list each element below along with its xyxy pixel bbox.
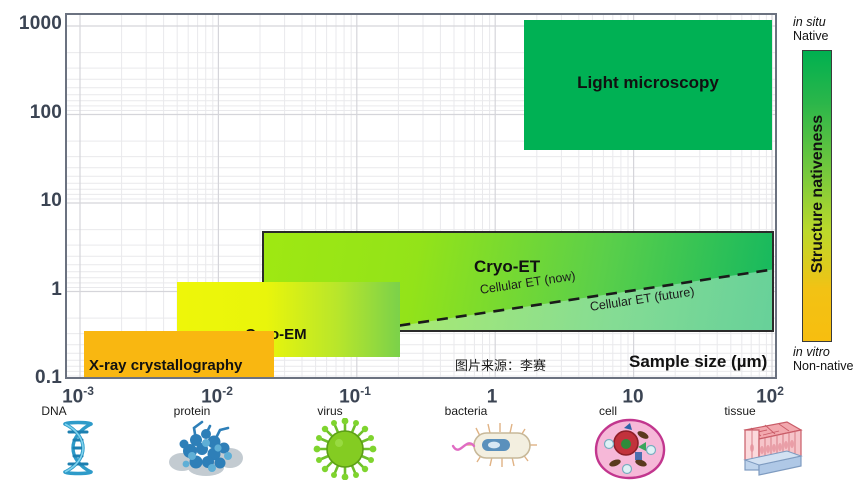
legend-top-italic: in situ [793,15,855,29]
legend-top-plain: Native [793,29,828,43]
source-annotation: 图片来源：李赛 [455,355,546,374]
x-category-virus: virus [270,404,390,418]
legend-structure-nativeness: in situ Native Structure nativeness in v… [793,13,855,379]
cell-icon [585,418,675,480]
region-label-cryo-et: Cryo-ET [474,257,540,277]
region-label-light-microscopy: Light microscopy [525,73,771,93]
dna-icon [33,418,123,480]
tissue-icon [723,418,813,480]
legend-bottom-caption: in vitro Non-native [793,345,855,373]
region-label-xray-crystallography: X-ray crystallography [89,357,242,374]
region-light-microscopy[interactable]: Light microscopy [524,20,772,150]
legend-bottom-plain: Non-native [793,359,853,373]
y-tick-1000: 1000 [4,13,62,35]
protein-icon [160,418,250,480]
legend-gradient-bar: Structure nativeness [802,50,832,342]
legend-title: Structure nativeness [809,63,827,325]
figure-root: 1000 100 10 1 0.1 Resolution (nm) [0,0,868,483]
y-tick-100: 100 [4,102,62,124]
x-category-tissue: tissue [680,404,800,418]
y-tick-1: 1 [4,279,62,301]
bacteria-icon [450,418,540,480]
legend-bottom-italic: in vitro [793,345,855,359]
virus-icon [300,418,390,480]
region-xray-crystallography[interactable]: X-ray crystallography [84,331,274,379]
x-category-bacteria: bacteria [406,404,526,418]
x-category-dna: DNA [0,404,114,418]
x-category-cell: cell [548,404,668,418]
y-tick-10: 10 [4,190,62,212]
x-category-protein: protein [132,404,252,418]
legend-top-caption: in situ Native [793,15,855,43]
x-axis-label: Sample size (µm) [629,352,767,372]
plot-area: Light microscopy Cryo-ET Molecular ET Ce… [65,13,777,379]
